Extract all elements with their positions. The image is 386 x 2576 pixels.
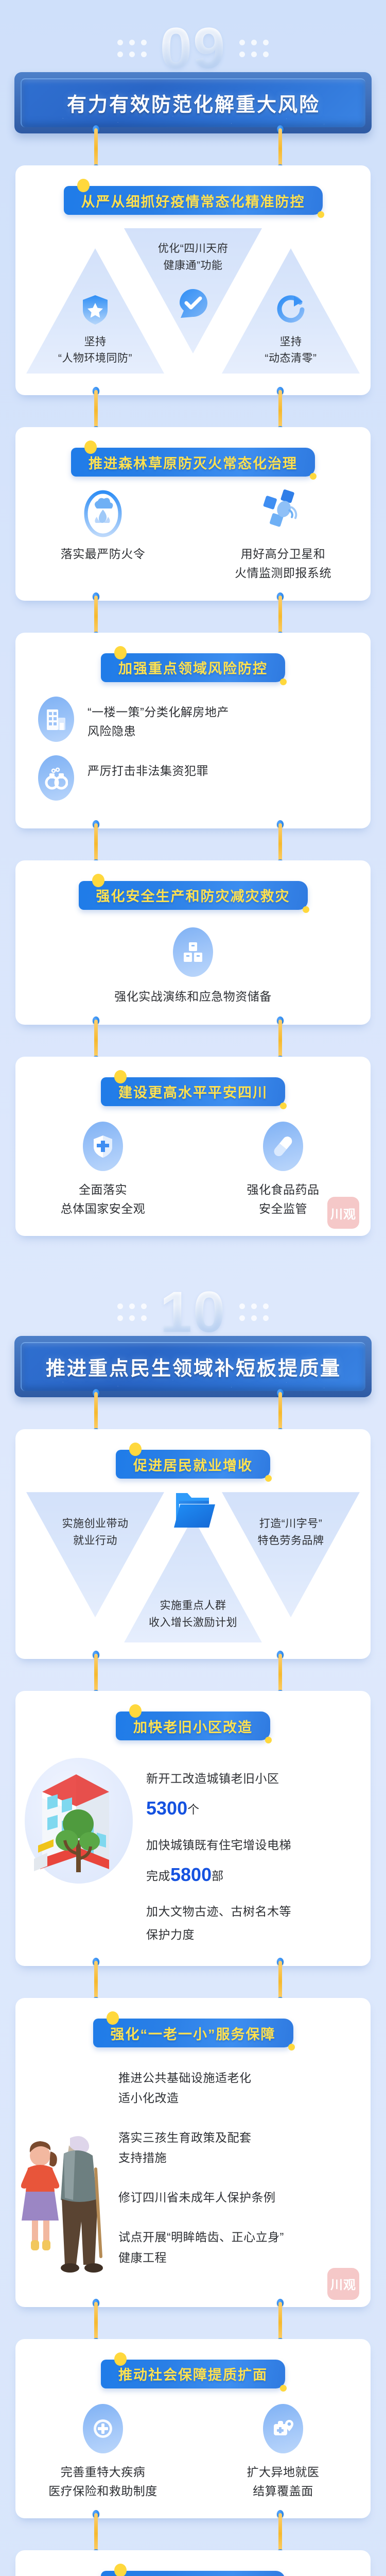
watermark-logo: 川观	[327, 1197, 359, 1229]
triangle-right-line2: 特色劳务品牌	[222, 1533, 360, 1550]
content-card-social-security: 推动社会保障提质扩面 完善重特大疾病 医疗保险和救助制度	[15, 2339, 371, 2519]
ribbon-label: 推动社会保障提质扩面	[118, 2364, 268, 2384]
ribbon-dot-icon	[114, 1070, 127, 1083]
ribbon-dot-icon	[114, 2564, 127, 2576]
supply-boxes-icon	[182, 941, 204, 963]
triangle-middle-line1: 优化“四川天府	[124, 241, 262, 258]
triangle-right-line2: “动态清零”	[222, 350, 360, 367]
triangle-left-line2: “人物环境同防”	[26, 350, 164, 367]
column-line1: 完善重特大疾病	[39, 2463, 167, 2482]
ribbon-old-community: 加快老旧小区改造	[116, 1711, 270, 1740]
ribbon-safety-production: 强化安全生产和防灾减灾救灾	[79, 881, 308, 910]
icon-row-line1: “一楼一策”分类化解房地产	[87, 703, 229, 722]
icon-row-item: 严厉打击非法集资犯罪	[38, 755, 348, 801]
column-line2: 火情监测即报系统	[219, 564, 347, 583]
ribbon-social-security: 推动社会保障提质扩面	[101, 2360, 285, 2388]
section-title-plate-10: 推进重点民生领域补短板提质量	[14, 1336, 372, 1397]
ribbon-dot-icon	[280, 679, 287, 685]
section-number-10: 10	[160, 1283, 226, 1341]
content-card-key-risk: 加强重点领域风险防控	[15, 633, 371, 828]
content-card-public-services: 完善基本公共服务体系 新建公办幼儿园200所	[15, 2550, 371, 2576]
pin-connector	[15, 1659, 371, 1691]
ribbon-dot-icon	[280, 1103, 287, 1109]
ribbon-label: 加强重点领域风险防控	[118, 657, 268, 677]
line-pre: 完成	[146, 1869, 170, 1883]
column-line2: 总体国家安全观	[39, 1199, 167, 1218]
ribbon-dot-icon	[318, 211, 324, 218]
triangle-left-line1: 坚持	[26, 334, 164, 351]
infographic-page: 09 有力有效防范化解重大风险 从严从细抓好疫情常态化精准防控	[0, 0, 386, 2576]
content-card-employment: 促进居民就业增收 实施创业带动 就业行动	[15, 1429, 371, 1659]
ribbon-dot-icon	[114, 2352, 127, 2366]
ribbon-epidemic-control: 从严从细抓好疫情常态化精准防控	[64, 186, 323, 215]
triangle-left: 实施创业带动 就业行动	[26, 1492, 164, 1620]
section-title-plate-09: 有力有效防范化解重大风险	[14, 72, 372, 133]
column-item: 用好高分卫星和 火情监测即报系统	[219, 492, 347, 583]
ribbon-label: 加快老旧小区改造	[133, 1716, 253, 1736]
handcuffs-icon	[44, 766, 68, 790]
triangle-left: 坚持 “人物环境同防”	[26, 246, 164, 374]
shield-icon	[93, 1134, 113, 1158]
ribbon-employment: 促进居民就业增收	[116, 1450, 270, 1479]
content-card-epidemic-control: 从严从细抓好疫情常态化精准防控 坚持 “人物环境同防”	[15, 165, 371, 395]
column-line1: 强化食品药品	[219, 1180, 347, 1199]
column-line1: 落实最严防火令	[39, 545, 167, 564]
ribbon-label: 强化“一老一小”服务保障	[111, 2023, 276, 2043]
check-badge-icon	[177, 287, 209, 320]
dot-grid-right-icon	[239, 1303, 269, 1321]
triangle-group-employment: 实施创业带动 就业行动 实施重点人群 收入增长激励计划 打造“川字号” 特色劳务…	[23, 1492, 363, 1645]
triangle-left-line2: 就业行动	[26, 1533, 164, 1550]
ribbon-label: 推进森林草原防灭火常态化治理	[89, 452, 297, 472]
pin-connector	[15, 828, 371, 860]
pin-connector	[15, 1025, 371, 1057]
column-line2: 结算覆盖面	[219, 2482, 347, 2501]
dot-grid-left-icon	[117, 1303, 147, 1321]
content-card-safety-production: 强化安全生产和防灾减灾救灾 强化实战演练和应急物资储备	[15, 860, 371, 1025]
section-header-10: 10 推进重点民生领域补短板提质量	[0, 1264, 386, 1397]
paragraph-item: 试点开展“明眸皓齿、正心立身” 健康工程	[118, 2227, 348, 2267]
dot-grid-left-icon	[117, 40, 147, 57]
ribbon-dot-icon	[84, 440, 97, 454]
triangle-middle-line2: 收入增长激励计划	[124, 1615, 262, 1632]
pin-connector	[15, 395, 371, 427]
column-line2: 医疗保险和救助制度	[39, 2482, 167, 2501]
watermark-logo: 川观	[327, 2268, 359, 2300]
ribbon-dot-icon	[77, 179, 90, 192]
ribbon-dot-icon	[265, 1475, 272, 1482]
ribbon-label: 建设更高水平平安四川	[118, 1081, 268, 1101]
icon-row-item: “一楼一策”分类化解房地产 风险隐患	[38, 697, 348, 742]
triangle-group-epidemic: 坚持 “人物环境同防” 优化“四川天府 健康通”功能	[23, 228, 363, 381]
medical-card-pin-icon	[271, 2417, 295, 2441]
ghost-number-row-09: 09	[0, 18, 386, 79]
content-card-forest-fire: 推进森林草原防灭火常态化治理	[15, 427, 371, 601]
ribbon-forest-fire: 推进森林草原防灭火常态化治理	[71, 448, 315, 477]
ribbon-label: 强化安全生产和防灾减灾救灾	[96, 885, 290, 905]
paragraph-item: 落实三孩生育政策及配套 支持措施	[118, 2128, 348, 2168]
line-pre: 加快城镇既有住宅增设电梯	[146, 1838, 291, 1852]
folder-icon	[171, 1489, 215, 1531]
column-item: 扩大异地就医 结算覆盖面	[219, 2404, 347, 2501]
icon-row-line1: 严厉打击非法集资犯罪	[87, 761, 208, 781]
section-number-09: 09	[160, 20, 226, 77]
stat-number-5800: 5800	[170, 1864, 212, 1885]
pin-connector	[15, 2307, 371, 2339]
ribbon-dot-icon	[107, 2011, 119, 2025]
section-header-09: 09 有力有效防范化解重大风险	[0, 0, 386, 133]
ribbon-safe-sichuan: 建设更高水平平安四川	[101, 1077, 285, 1106]
pin-connector	[15, 2518, 371, 2550]
pin-connector	[15, 133, 371, 165]
paragraph-item: 推进公共基础设施适老化 适小化改造	[118, 2068, 348, 2108]
content-card-elderly-children: 强化“一老一小”服务保障	[15, 1998, 371, 2307]
ribbon-dot-icon	[303, 906, 309, 913]
triangle-right: 坚持 “动态清零”	[222, 246, 360, 374]
triangle-middle: 优化“四川天府 健康通”功能	[124, 228, 262, 356]
line-post: 部	[212, 1869, 224, 1883]
line-pre: 加大文物古迹、古树名木等	[146, 1905, 291, 1918]
line-post: 个	[187, 1803, 200, 1816]
column-line1: 扩大异地就医	[219, 2463, 347, 2482]
single-text: 强化实战演练和应急物资储备	[26, 987, 360, 1006]
apartment-building-icon	[27, 1763, 130, 1882]
ribbon-key-risk: 加强重点领域风险防控	[101, 653, 285, 682]
shield-star-icon	[79, 293, 112, 326]
no-fire-forest-icon	[81, 489, 125, 538]
section-title-text-09: 有力有效防范化解重大风险	[27, 89, 360, 117]
stat-number-5300: 5300	[146, 1798, 187, 1819]
triangle-right-line1: 打造“川字号”	[222, 1516, 360, 1533]
column-line1: 全面落实	[39, 1180, 167, 1199]
content-card-old-community: 加快老旧小区改造	[15, 1691, 371, 1966]
pin-connector	[15, 1397, 371, 1429]
paragraph-item: 修订四川省未成年人保护条例	[118, 2188, 348, 2208]
line-pre: 新开工改造城镇老旧小区	[146, 1772, 279, 1785]
ghost-number-row-10: 10	[0, 1281, 386, 1343]
column-line1: 用好高分卫星和	[219, 545, 347, 564]
section-title-text-10: 推进重点民生领域补短板提质量	[27, 1352, 360, 1381]
ribbon-elderly-children: 强化“一老一小”服务保障	[93, 2019, 293, 2047]
old-community-text: 新开工改造城镇老旧小区 5300个 加快城镇既有住宅增设电梯 完成5800部 加…	[146, 1754, 355, 1946]
triangle-middle: 实施重点人群 收入增长激励计划	[124, 1515, 262, 1642]
ribbon-dot-icon	[114, 646, 127, 659]
icon-row-line2: 风险隐患	[87, 722, 229, 741]
ribbon-dot-icon	[280, 2385, 287, 2392]
triangle-left-line1: 实施创业带动	[26, 1516, 164, 1533]
column-item: 落实最严防火令	[39, 492, 167, 583]
triangle-right: 打造“川字号” 特色劳务品牌	[222, 1492, 360, 1620]
refresh-cycle-icon	[274, 293, 307, 326]
elderly-child-icon	[21, 2125, 118, 2279]
building-icon	[45, 707, 67, 731]
ribbon-label: 从严从细抓好疫情常态化精准防控	[81, 191, 305, 211]
ribbon-dot-icon	[92, 874, 104, 887]
triangle-middle-line1: 实施重点人群	[124, 1598, 262, 1615]
line-pre: 保护力度	[146, 1928, 195, 1941]
ribbon-dot-icon	[310, 473, 317, 480]
ribbon-label: 促进居民就业增收	[133, 1454, 253, 1475]
ribbon-public-services: 完善基本公共服务体系	[101, 2571, 285, 2576]
column-item: 完善重特大疾病 医疗保险和救助制度	[39, 2404, 167, 2501]
pin-connector	[15, 1966, 371, 1998]
satellite-icon	[261, 489, 305, 538]
triangle-middle-line2: 健康通”功能	[124, 258, 262, 275]
column-item: 全面落实 总体国家安全观	[39, 1122, 167, 1219]
triangle-right-line1: 坚持	[222, 334, 360, 351]
medical-cross-icon	[92, 2417, 114, 2441]
dot-grid-right-icon	[239, 40, 269, 57]
capsule-pill-icon	[272, 1134, 294, 1158]
content-card-safe-sichuan: 建设更高水平平安四川 全面落实 总体国家安全观	[15, 1057, 371, 1236]
pin-connector	[15, 601, 371, 633]
illustration-apartment	[20, 1754, 143, 1888]
